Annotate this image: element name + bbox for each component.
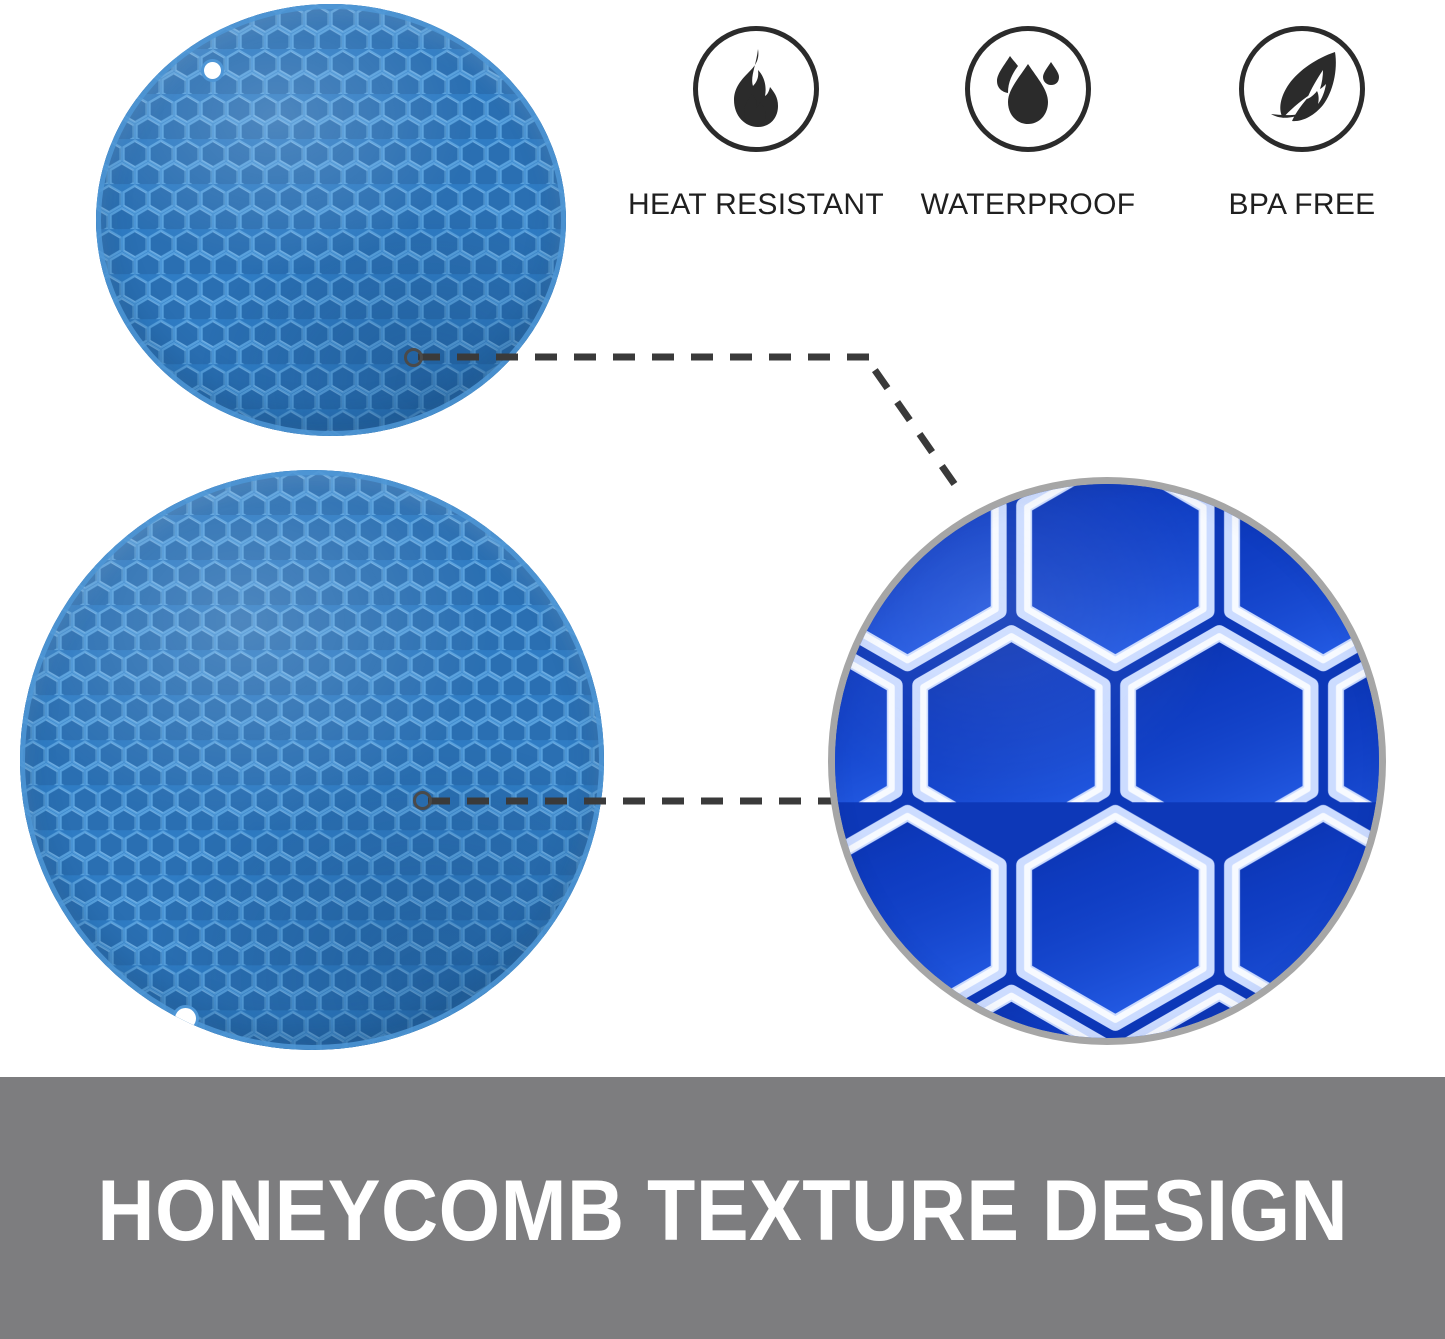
feature-badge-bpa-free: BPA FREE xyxy=(1172,26,1432,222)
badge-label-heat-resistant: HEAT RESISTANT xyxy=(626,188,886,222)
badge-ring-bpa-free xyxy=(1239,26,1365,152)
small-round-trivet xyxy=(96,4,566,436)
leaf-icon xyxy=(1261,50,1343,128)
hanging-hole-small xyxy=(204,62,221,79)
honeycomb-macro-texture xyxy=(833,482,1381,1040)
callout-marker-small-mat xyxy=(404,348,423,367)
honeycomb-texture-large xyxy=(20,470,604,1050)
badge-label-waterproof: WATERPROOF xyxy=(898,188,1158,222)
flame-icon xyxy=(722,48,790,130)
badge-label-bpa-free: BPA FREE xyxy=(1172,188,1432,222)
banner-title: HONEYCOMB TEXTURE DESIGN xyxy=(97,1168,1348,1254)
feature-badge-waterproof: WATERPROOF xyxy=(898,26,1158,222)
badge-ring-heat xyxy=(693,26,819,152)
large-round-trivet xyxy=(20,470,604,1050)
water-drops-icon xyxy=(988,52,1068,126)
bottom-banner: HONEYCOMB TEXTURE DESIGN xyxy=(0,1077,1445,1339)
feature-badge-heat-resistant: HEAT RESISTANT xyxy=(626,26,886,222)
hanging-hole-large xyxy=(175,1008,196,1029)
badge-ring-waterproof xyxy=(965,26,1091,152)
product-infographic: HEAT RESISTANT WATERPROOF BPA FREE xyxy=(0,0,1445,1339)
honeycomb-macro-closeup xyxy=(828,477,1386,1045)
callout-marker-large-mat xyxy=(413,791,432,810)
honeycomb-texture-small xyxy=(96,4,566,436)
